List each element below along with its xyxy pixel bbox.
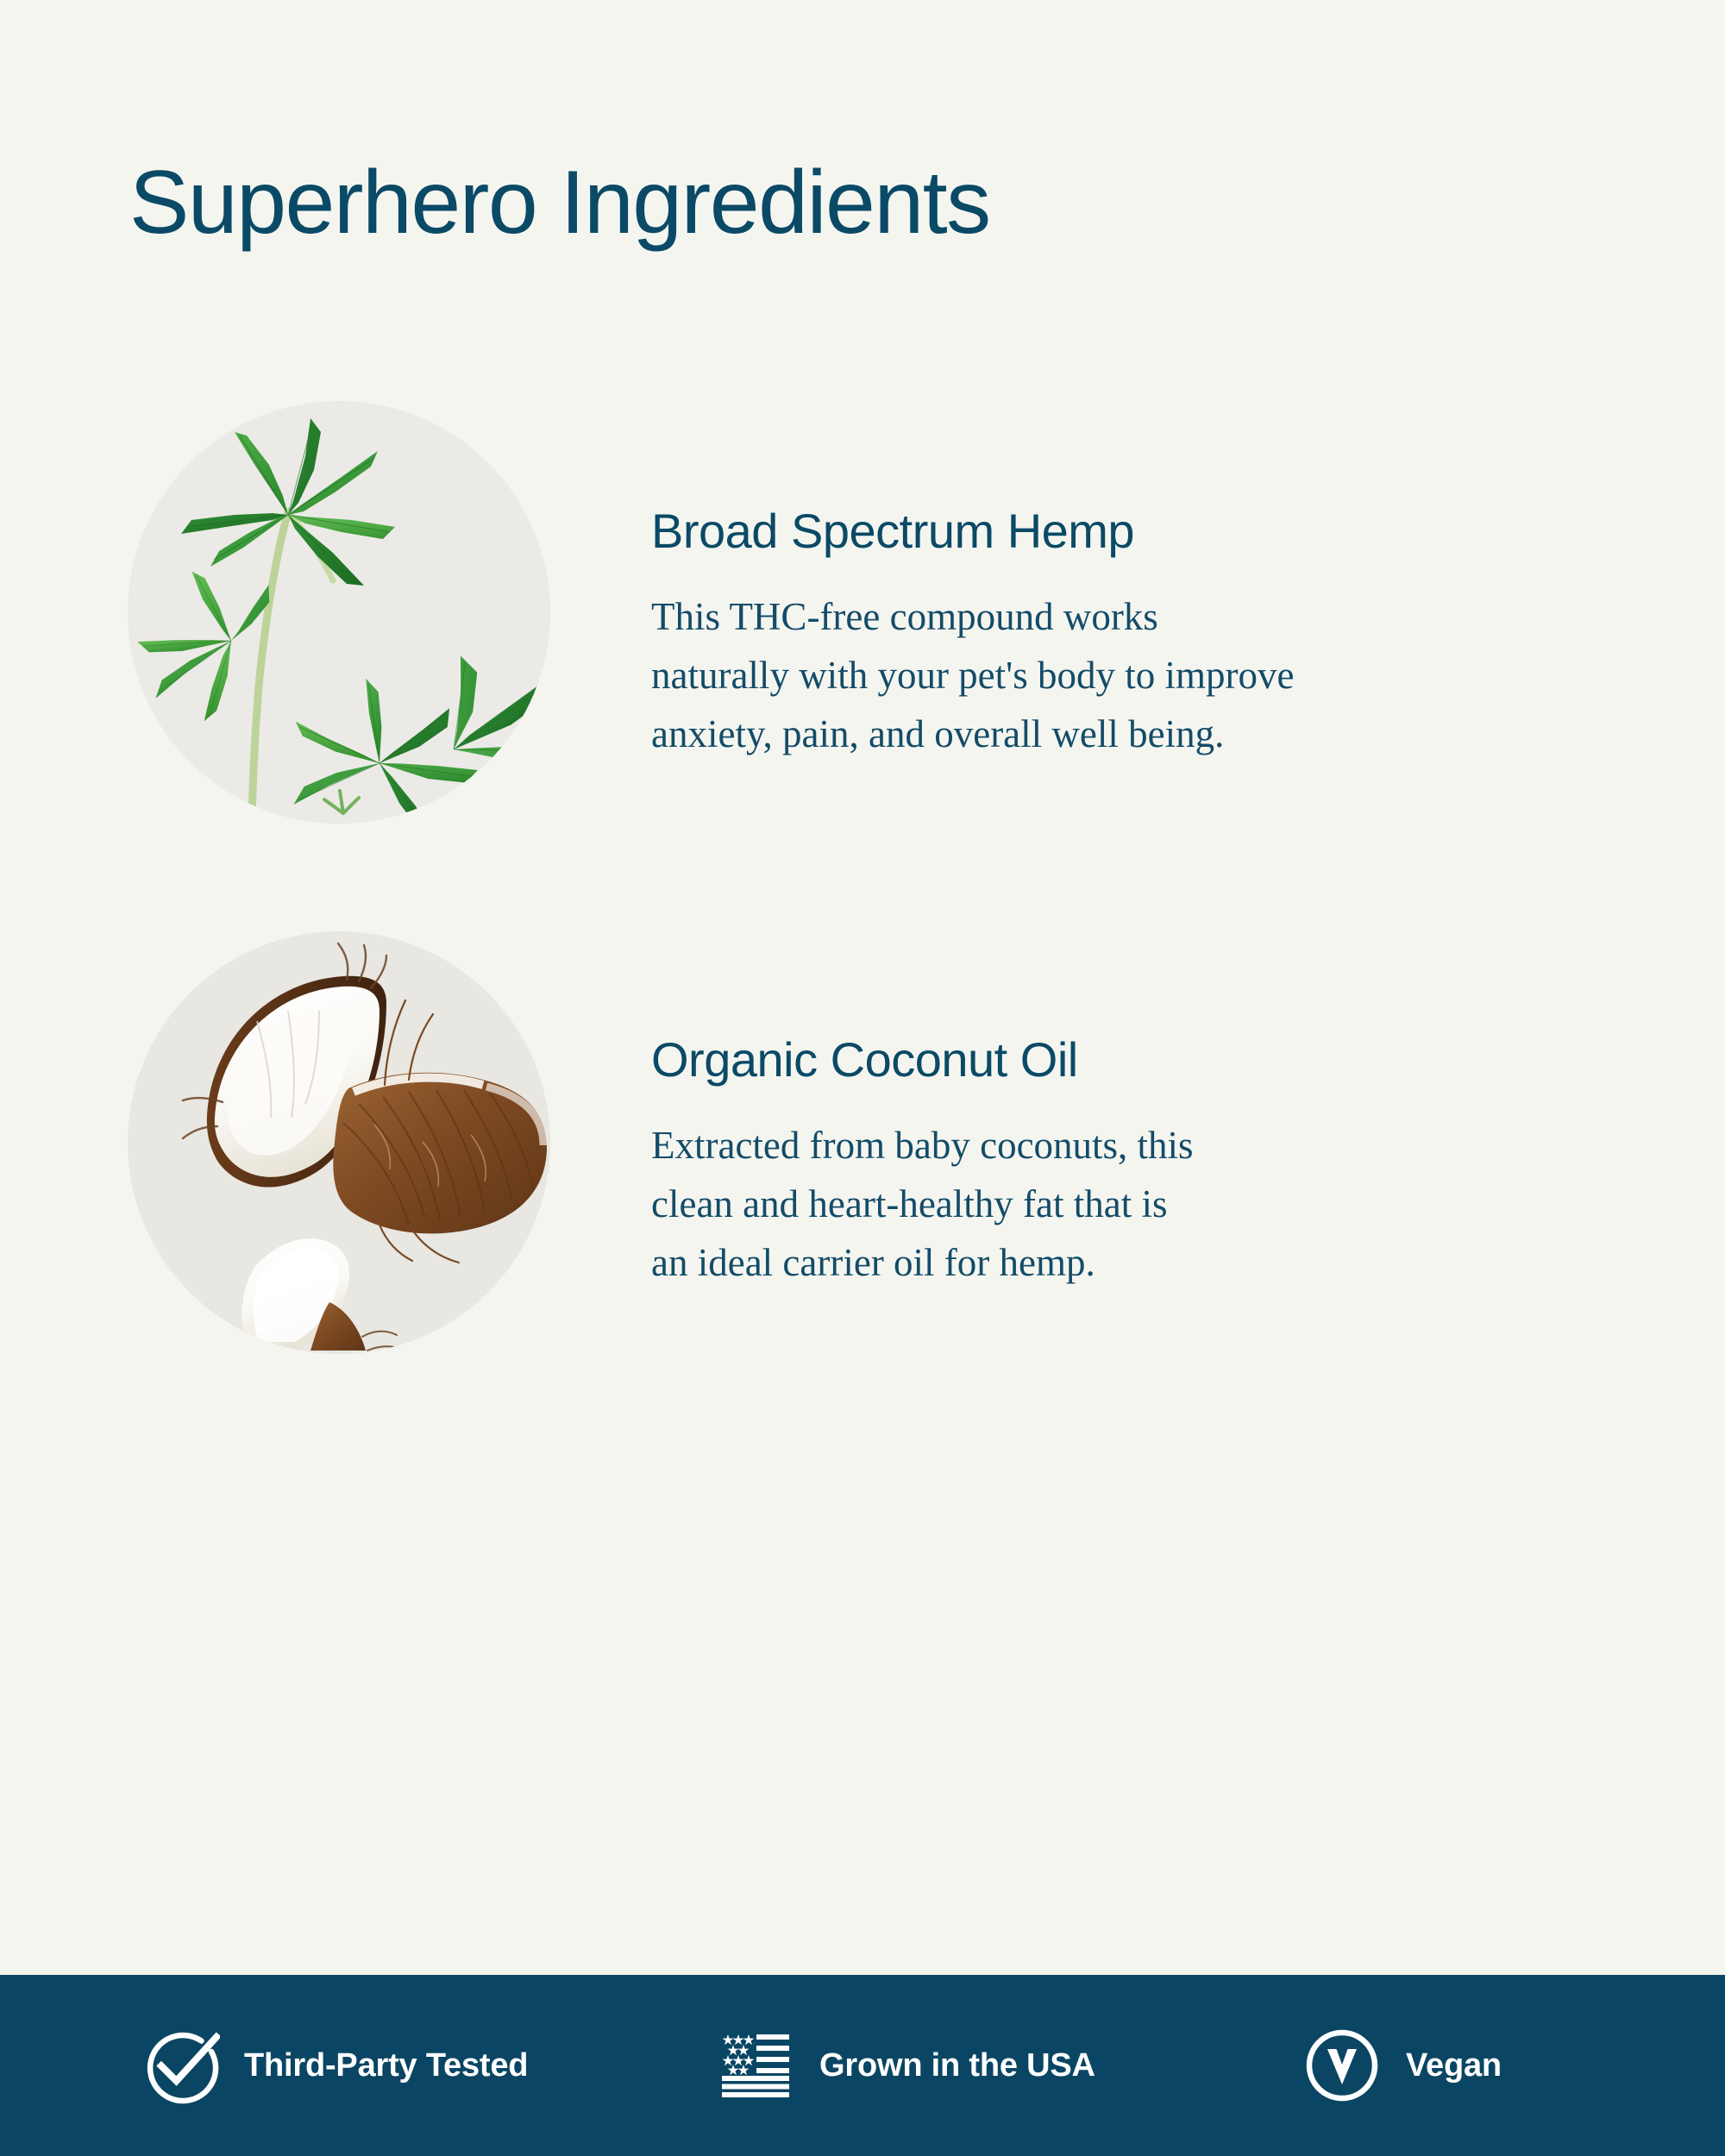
ingredient-description-line: This THC-free compound works (651, 587, 1617, 646)
trust-badge-footer: Third-Party Tested (0, 1975, 1725, 2156)
coconut-halves-photo (128, 931, 550, 1354)
ingredient-description: Extracted from baby coconuts, this clean… (651, 1116, 1617, 1293)
ingredient-description: This THC-free compound works naturally w… (651, 587, 1617, 764)
badge-grown-in-usa: Grown in the USA (716, 2026, 1095, 2105)
ingredient-description-line: anxiety, pain, and overall well being. (651, 705, 1617, 763)
badge-label: Third-Party Tested (244, 2047, 528, 2084)
ingredient-row: Organic Coconut Oil Extracted from baby … (0, 931, 1725, 1363)
ingredient-description-line: an ideal carrier oil for hemp. (651, 1233, 1617, 1292)
badge-label: Vegan (1406, 2047, 1502, 2084)
ingredient-description-line: naturally with your pet's body to improv… (651, 646, 1617, 705)
ingredient-name: Broad Spectrum Hemp (651, 505, 1617, 558)
ingredient-description-line: Extracted from baby coconuts, this (651, 1116, 1617, 1175)
check-circle-icon (141, 2026, 220, 2105)
badge-vegan: Vegan (1302, 2026, 1502, 2105)
ingredient-row: Broad Spectrum Hemp This THC-free compou… (0, 401, 1725, 832)
ingredient-description-line: clean and heart-healthy fat that is (651, 1175, 1617, 1233)
badge-third-party-tested: Third-Party Tested (141, 2026, 528, 2105)
usa-flag-icon (716, 2026, 795, 2105)
vegan-v-circle-icon (1302, 2026, 1382, 2105)
hemp-leaves-photo (128, 401, 550, 824)
ingredients-page: Superhero Ingredients (0, 0, 1725, 2156)
ingredient-text-block: Broad Spectrum Hemp This THC-free compou… (651, 505, 1617, 764)
ingredient-text-block: Organic Coconut Oil Extracted from baby … (651, 1033, 1617, 1293)
ingredient-name: Organic Coconut Oil (651, 1033, 1617, 1087)
page-title: Superhero Ingredients (129, 154, 990, 252)
badge-label: Grown in the USA (819, 2047, 1095, 2084)
